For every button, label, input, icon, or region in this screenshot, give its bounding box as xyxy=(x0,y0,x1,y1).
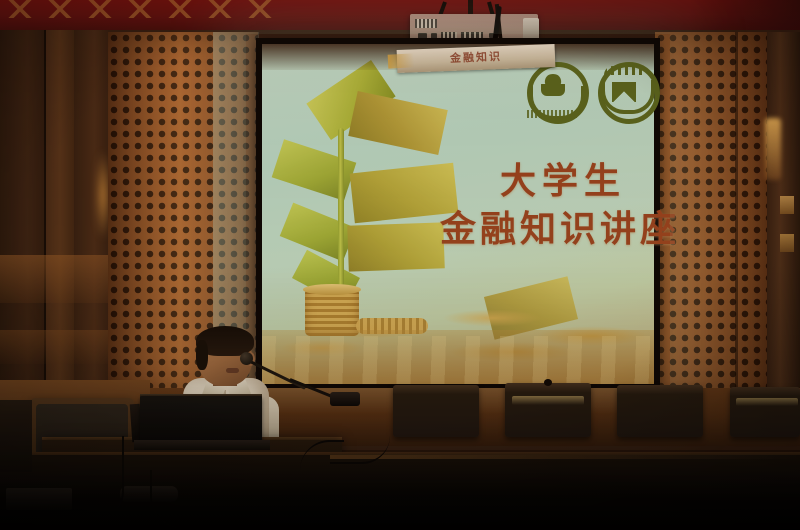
slide-title-line1: 大学生 xyxy=(500,152,626,204)
desk-device-left xyxy=(6,488,72,510)
wall-plaque-lower xyxy=(780,234,794,252)
laptop-screen-back xyxy=(140,396,262,444)
chair-2 xyxy=(505,383,591,437)
plant-leaf-left-2 xyxy=(280,203,357,262)
presenter-hair-side xyxy=(196,340,208,370)
laptop-base xyxy=(134,440,270,450)
chair-2-highlight xyxy=(512,396,584,405)
presenter-mouth xyxy=(226,368,239,373)
chair-4-highlight xyxy=(736,398,798,406)
chair-2-knob xyxy=(544,379,552,386)
coin-stack xyxy=(305,288,359,336)
cable-1 xyxy=(100,436,124,516)
chair-3 xyxy=(617,385,703,437)
projector-vents xyxy=(415,19,437,28)
coin-stack-top xyxy=(303,284,361,295)
microphone-base xyxy=(330,392,360,406)
wall-light-band-lower xyxy=(0,330,108,364)
emblem-left-inner xyxy=(541,74,565,96)
emblem-right-inner xyxy=(612,82,636,102)
ceiling-right-shadow xyxy=(690,0,800,32)
acoustic-panel-right-seam xyxy=(735,32,738,400)
ceiling-pattern xyxy=(0,0,280,18)
projector-ceiling-plate xyxy=(468,0,473,14)
wall-light-band-upper xyxy=(0,255,108,303)
front-desk-highlight xyxy=(330,455,800,459)
plant-leaf-right-1 xyxy=(348,91,448,155)
chair-1 xyxy=(393,385,479,437)
wall-plaque-upper xyxy=(780,196,794,214)
right-wall-strip xyxy=(767,32,800,432)
wall-lamp-right xyxy=(765,118,781,180)
slide-title-line2: 金融知识讲座 xyxy=(440,200,680,252)
chair-4 xyxy=(730,387,800,437)
emblem-right-stars xyxy=(604,66,644,75)
microphone-head xyxy=(240,352,253,365)
side-monitor xyxy=(0,400,32,472)
slide-gold-streaks xyxy=(262,336,654,384)
plant-leaf-right-3 xyxy=(347,222,445,271)
emblem-left-caption xyxy=(527,110,579,118)
lecture-hall-photo: 大学生 金融知识讲座 金融知识 xyxy=(0,0,800,530)
